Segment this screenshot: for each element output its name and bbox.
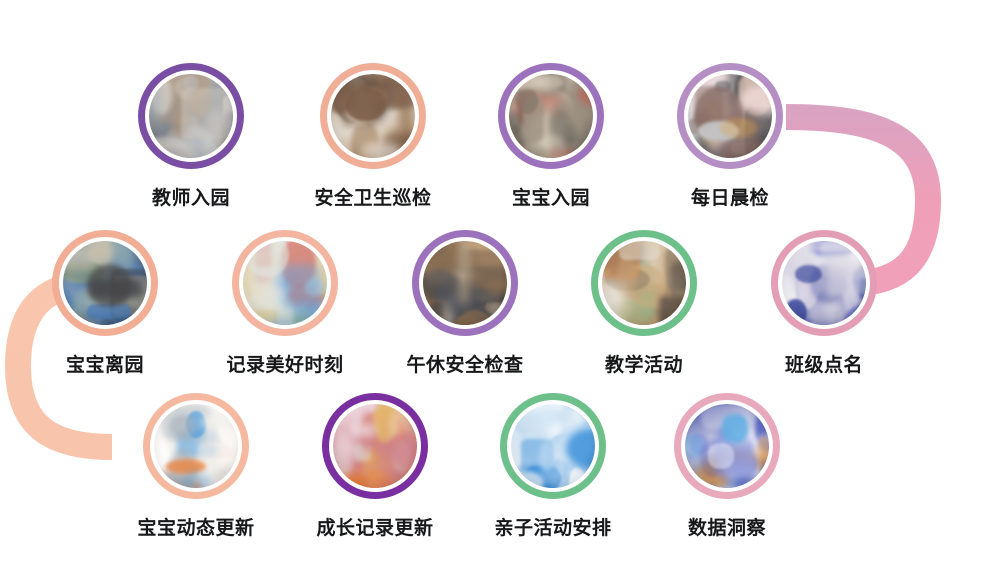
step-photo bbox=[688, 74, 772, 158]
step-label-9: 班级点名 bbox=[694, 356, 954, 375]
infographic-canvas: 教师入园安全卫生巡检宝宝入园每日晨检宝宝离园记录美好时刻午休安全检查教学活动班级… bbox=[0, 0, 1000, 563]
step-photo bbox=[333, 404, 417, 488]
step-ring-1[interactable] bbox=[138, 63, 244, 169]
step-photo-holder bbox=[688, 74, 772, 158]
step-photo-holder bbox=[63, 241, 147, 325]
step-ring-8[interactable] bbox=[591, 230, 697, 336]
step-photo-holder bbox=[149, 74, 233, 158]
step-photo-holder bbox=[331, 74, 415, 158]
step-photo-holder bbox=[333, 404, 417, 488]
step-ring-3[interactable] bbox=[498, 63, 604, 169]
step-photo-holder bbox=[602, 241, 686, 325]
step-photo bbox=[331, 74, 415, 158]
step-photo bbox=[154, 404, 238, 488]
step-photo-holder bbox=[243, 241, 327, 325]
step-ring-4[interactable] bbox=[677, 63, 783, 169]
step-ring-9[interactable] bbox=[771, 230, 877, 336]
step-ring-5[interactable] bbox=[52, 230, 158, 336]
step-ring-11[interactable] bbox=[322, 393, 428, 499]
step-photo bbox=[685, 404, 769, 488]
step-photo bbox=[602, 241, 686, 325]
step-ring-13[interactable] bbox=[674, 393, 780, 499]
step-ring-6[interactable] bbox=[232, 230, 338, 336]
step-label-13: 数据洞察 bbox=[597, 519, 857, 538]
step-ring-7[interactable] bbox=[412, 230, 518, 336]
step-photo bbox=[509, 74, 593, 158]
step-photo-holder bbox=[685, 404, 769, 488]
step-photo-holder bbox=[154, 404, 238, 488]
step-photo bbox=[243, 241, 327, 325]
step-ring-2[interactable] bbox=[320, 63, 426, 169]
step-photo bbox=[63, 241, 147, 325]
step-photo-holder bbox=[509, 74, 593, 158]
step-photo bbox=[423, 241, 507, 325]
step-photo bbox=[511, 404, 595, 488]
step-label-4: 每日晨检 bbox=[600, 189, 860, 208]
step-ring-10[interactable] bbox=[143, 393, 249, 499]
step-photo-holder bbox=[782, 241, 866, 325]
step-ring-12[interactable] bbox=[500, 393, 606, 499]
step-photo bbox=[782, 241, 866, 325]
step-photo bbox=[149, 74, 233, 158]
step-photo-holder bbox=[511, 404, 595, 488]
step-photo-holder bbox=[423, 241, 507, 325]
